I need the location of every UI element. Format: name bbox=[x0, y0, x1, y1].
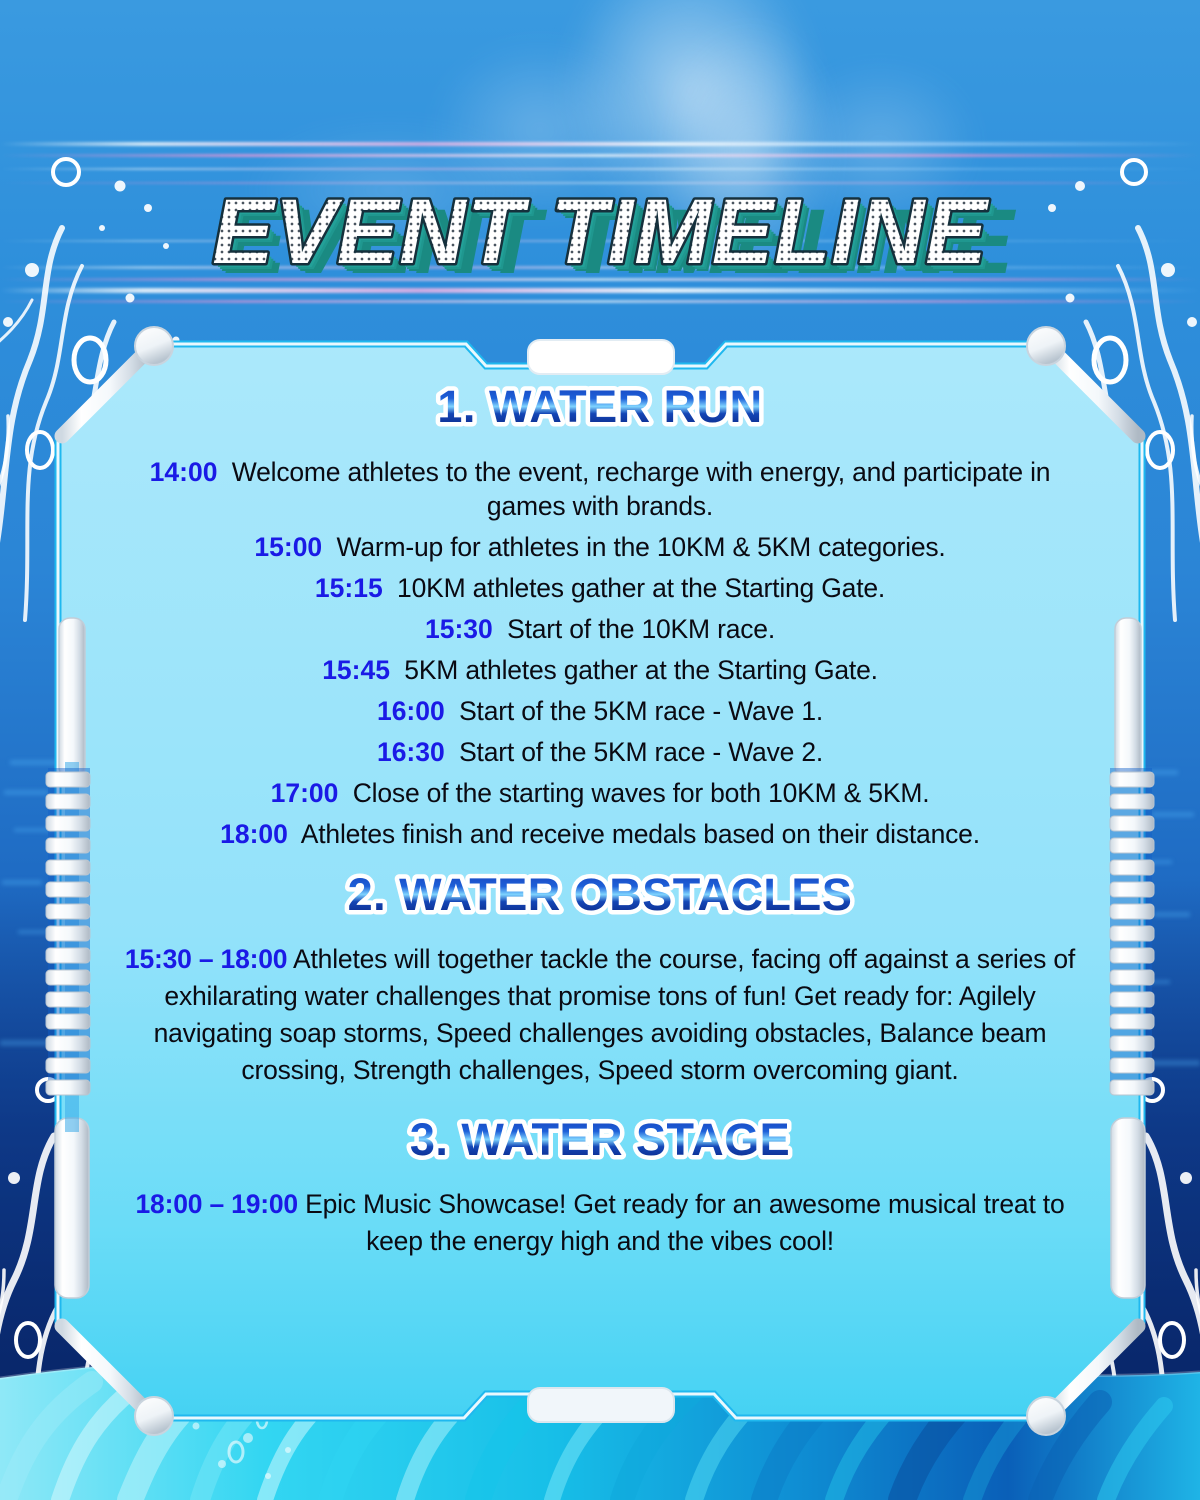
city-light bbox=[18, 930, 48, 934]
row-time: 15:30 bbox=[425, 614, 493, 644]
row-time: 16:30 bbox=[377, 737, 445, 767]
event-timeline-poster: EVENT TIMELINE EVENT TIMELINE EVENT TIME… bbox=[0, 0, 1200, 1500]
row-text: Warm-up for athletes in the 10KM & 5KM c… bbox=[337, 532, 946, 562]
poster-title: EVENT TIMELINE EVENT TIMELINE EVENT TIME… bbox=[0, 178, 1200, 298]
paragraph-time: 15:30 – 18:00 bbox=[125, 944, 287, 974]
section-heading-water-run: 1. WATER RUN 1. WATER RUN bbox=[118, 380, 1082, 441]
timeline-rows-water-run: 14:00 Welcome athletes to the event, rec… bbox=[118, 451, 1082, 854]
row-text: 5KM athletes gather at the Starting Gate… bbox=[404, 655, 878, 685]
timeline-row: 18:00 Athletes finish and receive medals… bbox=[118, 813, 1082, 854]
row-text: Start of the 5KM race - Wave 1. bbox=[459, 696, 823, 726]
timeline-content: 1. WATER RUN 1. WATER RUN 14:00 Welcome … bbox=[118, 380, 1082, 1390]
heading-fill: 3. WATER STAGE bbox=[410, 1114, 790, 1165]
city-light bbox=[1154, 912, 1190, 917]
row-text: Start of the 5KM race - Wave 2. bbox=[459, 737, 823, 767]
timeline-row: 14:00 Welcome athletes to the event, rec… bbox=[118, 451, 1082, 526]
paragraph-text: Athletes will together tackle the course… bbox=[154, 944, 1076, 1085]
row-text: 10KM athletes gather at the Starting Gat… bbox=[397, 573, 885, 603]
timeline-row: 15:00 Warm-up for athletes in the 10KM &… bbox=[118, 526, 1082, 567]
svg-text:EVENT TIMELINE: EVENT TIMELINE bbox=[212, 181, 989, 283]
paragraph-time: 18:00 – 19:00 bbox=[136, 1189, 298, 1219]
city-light bbox=[2, 880, 42, 885]
row-text: Start of the 10KM race. bbox=[507, 614, 775, 644]
timeline-row: 16:30 Start of the 5KM race - Wave 2. bbox=[118, 731, 1082, 772]
row-time: 15:00 bbox=[254, 532, 322, 562]
timeline-row: 15:45 5KM athletes gather at the Startin… bbox=[118, 649, 1082, 690]
timeline-row: 15:30 Start of the 10KM race. bbox=[118, 608, 1082, 649]
section-heading-water-stage: 3. WATER STAGE 3. WATER STAGE bbox=[118, 1113, 1082, 1174]
row-time: 15:15 bbox=[315, 573, 383, 603]
row-time: 18:00 bbox=[220, 819, 288, 849]
heading-fill: 2. WATER OBSTACLES bbox=[348, 869, 853, 920]
timeline-row: 15:15 10KM athletes gather at the Starti… bbox=[118, 567, 1082, 608]
row-text: Athletes finish and receive medals based… bbox=[301, 819, 980, 849]
row-text: Close of the starting waves for both 10K… bbox=[353, 778, 930, 808]
city-light bbox=[1152, 812, 1194, 817]
row-time: 14:00 bbox=[150, 457, 218, 487]
paragraph-text: Epic Music Showcase! Get ready for an aw… bbox=[305, 1189, 1064, 1256]
timeline-row: 17:00 Close of the starting waves for bo… bbox=[118, 772, 1082, 813]
timeline-row: 16:00 Start of the 5KM race - Wave 1. bbox=[118, 690, 1082, 731]
city-light bbox=[4, 790, 48, 795]
timeline-panel: 1. WATER RUN 1. WATER RUN 14:00 Welcome … bbox=[46, 332, 1154, 1430]
section-heading-water-obstacles: 2. WATER OBSTACLES 2. WATER OBSTACLES bbox=[118, 868, 1082, 929]
row-time: 17:00 bbox=[271, 778, 339, 808]
section-paragraph-water-obstacles: 15:30 – 18:00 Athletes will together tac… bbox=[118, 941, 1082, 1089]
heading-fill: 1. WATER RUN bbox=[437, 381, 762, 432]
row-time: 15:45 bbox=[322, 655, 390, 685]
row-text: Welcome athletes to the event, recharge … bbox=[232, 457, 1051, 521]
poster-title-graphic: EVENT TIMELINE EVENT TIMELINE EVENT TIME… bbox=[150, 173, 1050, 303]
section-paragraph-water-stage: 18:00 – 19:00 Epic Music Showcase! Get r… bbox=[118, 1186, 1082, 1260]
row-time: 16:00 bbox=[377, 696, 445, 726]
